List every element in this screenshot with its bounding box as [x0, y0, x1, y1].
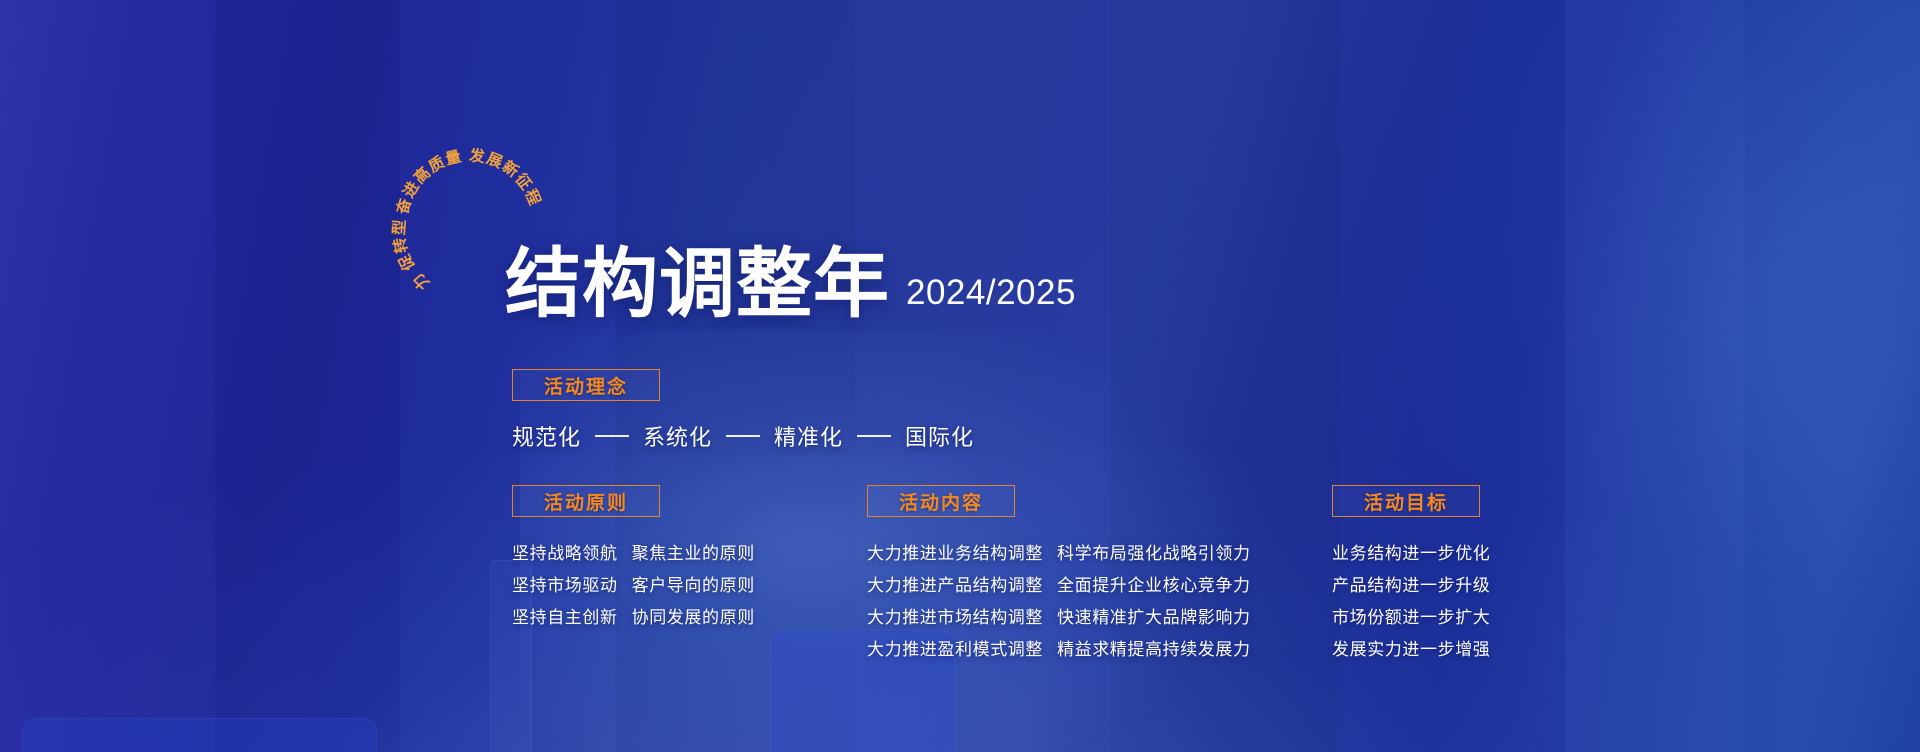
concept-item-1: 系统化: [643, 420, 712, 452]
tag-principles: 活动原则: [512, 485, 660, 517]
list-item: 业务结构进一步优化: [1332, 539, 1490, 564]
content-a-1: 大力推进产品结构调整: [867, 571, 1043, 596]
concept-item-3: 国际化: [905, 420, 974, 452]
seal-arc-top: 奋进高质量 发展新征程: [392, 145, 544, 217]
principle-b-1: 客户导向的原则: [632, 571, 755, 596]
list-item: 坚持市场驱动 客户导向的原则: [512, 571, 755, 596]
list-item: 产品结构进一步升级: [1332, 571, 1490, 596]
list-item: 坚持自主创新 协同发展的原则: [512, 603, 755, 628]
poster-stage: 奋进高质量 发展新征程 凝心聚力 促转型 增动能 结构调整年 2024/2025…: [0, 0, 1920, 752]
content-b-2: 快速精准扩大品牌影响力: [1057, 603, 1251, 628]
separator-dash-icon: [726, 435, 760, 437]
principle-b-2: 协同发展的原则: [632, 603, 755, 628]
concept-item-0: 规范化: [512, 420, 581, 452]
list-item: 市场份额进一步扩大: [1332, 603, 1490, 628]
content-b-0: 科学布局强化战略引领力: [1057, 539, 1251, 564]
goals-section: 活动目标 业务结构进一步优化 产品结构进一步升级 市场份额进一步扩大 发展实力进…: [1332, 485, 1490, 660]
headline-group: 结构调整年 2024/2025: [505, 248, 1076, 322]
tag-goals: 活动目标: [1332, 485, 1480, 517]
content-b-1: 全面提升企业核心竞争力: [1057, 571, 1251, 596]
principle-a-0: 坚持战略领航: [512, 539, 618, 564]
tag-concept: 活动理念: [512, 369, 660, 401]
principle-b-0: 聚焦主业的原则: [632, 539, 755, 564]
tag-goals-label: 活动目标: [1364, 488, 1448, 515]
list-item: 大力推进盈利模式调整 精益求精提高持续发展力: [867, 635, 1251, 660]
content-b-3: 精益求精提高持续发展力: [1057, 635, 1251, 660]
contents-section: 活动内容 大力推进业务结构调整 科学布局强化战略引领力 大力推进产品结构调整 全…: [867, 485, 1251, 660]
content-a-2: 大力推进市场结构调整: [867, 603, 1043, 628]
goal-2: 市场份额进一步扩大: [1332, 603, 1490, 628]
goal-3: 发展实力进一步增强: [1332, 635, 1490, 660]
principle-a-1: 坚持市场驱动: [512, 571, 618, 596]
goals-rows: 业务结构进一步优化 产品结构进一步升级 市场份额进一步扩大 发展实力进一步增强: [1332, 539, 1490, 660]
page-title: 结构调整年: [505, 248, 890, 322]
concept-items: 规范化 系统化 精准化 国际化: [512, 420, 974, 452]
concept-section: 活动理念: [512, 369, 660, 401]
tag-principles-label: 活动原则: [544, 488, 628, 515]
poster-content: 奋进高质量 发展新征程 凝心聚力 促转型 增动能 结构调整年 2024/2025…: [0, 0, 1920, 752]
principles-rows: 坚持战略领航 聚焦主业的原则 坚持市场驱动 客户导向的原则 坚持自主创新 协同发…: [512, 539, 755, 628]
list-item: 发展实力进一步增强: [1332, 635, 1490, 660]
contents-rows: 大力推进业务结构调整 科学布局强化战略引领力 大力推进产品结构调整 全面提升企业…: [867, 539, 1251, 660]
tag-contents-label: 活动内容: [899, 488, 983, 515]
separator-dash-icon: [595, 435, 629, 437]
tag-contents: 活动内容: [867, 485, 1015, 517]
concept-item-2: 精准化: [774, 420, 843, 452]
goal-0: 业务结构进一步优化: [1332, 539, 1490, 564]
content-a-0: 大力推进业务结构调整: [867, 539, 1043, 564]
principles-section: 活动原则 坚持战略领航 聚焦主业的原则 坚持市场驱动 客户导向的原则 坚持自主创…: [512, 485, 755, 628]
list-item: 大力推进产品结构调整 全面提升企业核心竞争力: [867, 571, 1251, 596]
list-item: 大力推进市场结构调整 快速精准扩大品牌影响力: [867, 603, 1251, 628]
list-item: 大力推进业务结构调整 科学布局强化战略引领力: [867, 539, 1251, 564]
tag-concept-label: 活动理念: [544, 372, 628, 399]
principle-a-2: 坚持自主创新: [512, 603, 618, 628]
list-item: 坚持战略领航 聚焦主业的原则: [512, 539, 755, 564]
separator-dash-icon: [857, 435, 891, 437]
content-a-3: 大力推进盈利模式调整: [867, 635, 1043, 660]
goal-1: 产品结构进一步升级: [1332, 571, 1490, 596]
title-years: 2024/2025: [906, 273, 1076, 322]
